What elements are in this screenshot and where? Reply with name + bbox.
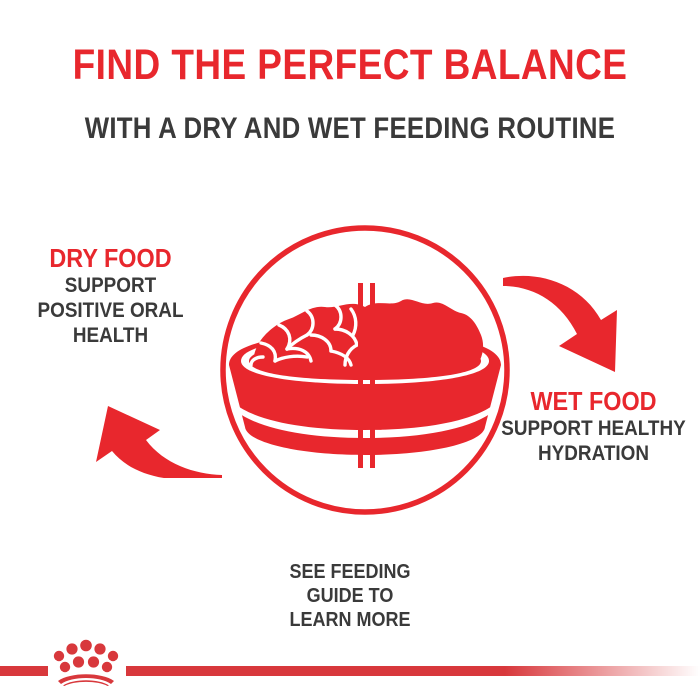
royal-canin-crown-logo-icon — [48, 636, 124, 686]
caption-line-2: GUIDE TO — [35, 584, 665, 608]
wet-food-mound — [365, 299, 483, 365]
dry-food-desc-line-3: HEALTH — [18, 323, 203, 348]
bottom-caption: SEE FEEDING GUIDE TO LEARN MORE — [35, 560, 665, 632]
caption-line-3: LEARN MORE — [35, 608, 665, 632]
dry-kibble-mound — [251, 304, 365, 365]
curved-arrow-up-left-icon — [90, 378, 222, 478]
pet-food-bowl-icon — [215, 215, 525, 525]
footer-bar-right-segment — [126, 666, 700, 676]
wet-food-desc-line-2: HYDRATION — [498, 441, 690, 466]
wet-food-desc-line-1: SUPPORT HEALTHY — [498, 416, 690, 441]
footer-bar-left-segment — [0, 666, 48, 676]
wet-food-title: WET FOOD — [498, 386, 690, 416]
page-subtitle: WITH A DRY AND WET FEEDING ROUTINE — [49, 112, 651, 145]
dry-food-block: DRY FOOD SUPPORT POSITIVE ORAL HEALTH — [8, 243, 213, 348]
bowl-graphic — [229, 283, 501, 468]
page-title: FIND THE PERFECT BALANCE — [49, 42, 651, 88]
dry-food-title: DRY FOOD — [18, 243, 203, 273]
curved-arrow-down-right-icon — [503, 272, 625, 376]
poster-root: FIND THE PERFECT BALANCE WITH A DRY AND … — [0, 0, 700, 700]
caption-line-1: SEE FEEDING — [35, 560, 665, 584]
dry-food-desc-line-1: SUPPORT — [18, 273, 203, 298]
dry-food-desc-line-2: POSITIVE ORAL — [18, 298, 203, 323]
